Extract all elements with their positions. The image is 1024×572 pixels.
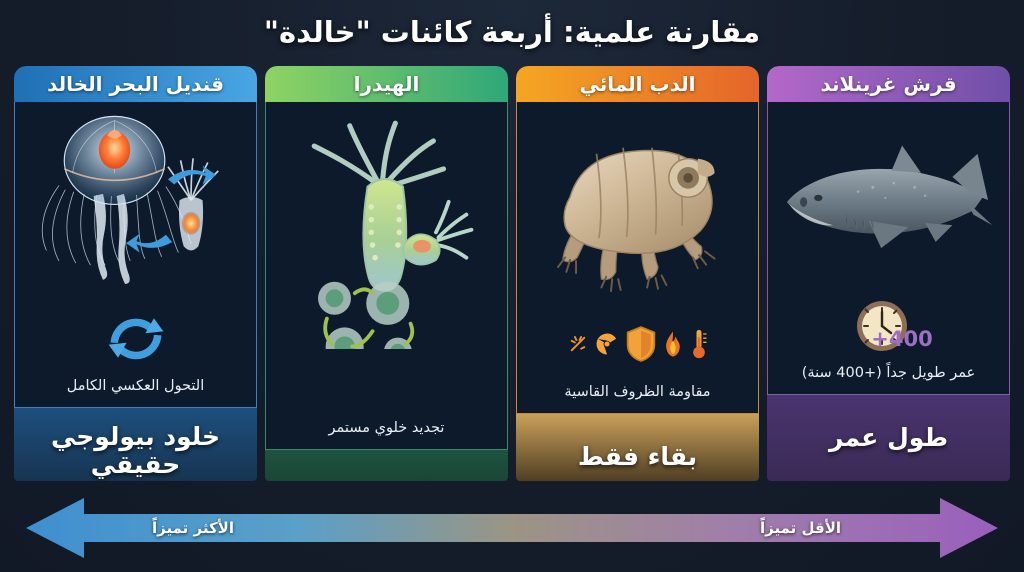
card-caption-immortal-jellyfish: التحول العكسي الكامل [67, 369, 205, 407]
scale-label-least-distinct: الأقل تميزاً [760, 519, 841, 537]
card-header-tardigrade: الدب المائي [516, 66, 759, 102]
jellyfish-illustration [15, 108, 256, 307]
page-title: مقارنة علمية: أربعة كائنات "خالدة" [0, 6, 1024, 58]
resistance-icons-group [517, 313, 758, 375]
card-caption-hydra: تجديد خلوي مستمر [329, 411, 445, 449]
thermometer-icon [689, 327, 709, 361]
card-verdict-hydra: لا تشيخ [265, 450, 508, 481]
greenland-shark-illustration [768, 108, 1009, 294]
clock-icon: 400+ [768, 294, 1009, 356]
scale-label-most-distinct: الأكثر تميزاً [152, 519, 234, 537]
stem-cells-icon [266, 349, 507, 411]
radiation-icon [595, 332, 619, 356]
clock-badge-value: 400+ [871, 327, 932, 351]
dehydration-icon [567, 333, 589, 355]
comparison-cards: قنديل البحر الخالد [14, 66, 1010, 481]
distinction-scale: الأكثر تميزاً الأقل تميزاً [0, 492, 1024, 564]
card-caption-tardigrade: مقاومة الظروف القاسية [564, 375, 710, 413]
card-header-hydra: الهيدرا [265, 66, 508, 102]
tardigrade-illustration [517, 108, 758, 313]
flame-icon [663, 329, 683, 359]
shield-icon [625, 324, 657, 364]
card-tardigrade[interactable]: الدب المائي [516, 66, 759, 481]
card-body-immortal-jellyfish: التحول العكسي الكامل [14, 102, 257, 408]
card-body-tardigrade: مقاومة الظروف القاسية [516, 102, 759, 414]
card-body-hydra: تجديد خلوي مستمر [265, 102, 508, 450]
card-body-greenland-shark: 400+ عمر طويل جداً (+400 سنة) [767, 102, 1010, 395]
card-verdict-tardigrade: بقاء فقط [516, 414, 759, 481]
card-header-immortal-jellyfish: قنديل البحر الخالد [14, 66, 257, 102]
card-header-greenland-shark: قرش غرينلاند [767, 66, 1010, 102]
card-caption-greenland-shark: عمر طويل جداً (+400 سنة) [802, 356, 976, 394]
card-hydra[interactable]: الهيدرا [265, 66, 508, 481]
card-immortal-jellyfish[interactable]: قنديل البحر الخالد [14, 66, 257, 481]
card-verdict-immortal-jellyfish: خلود بيولوجي حقيقي [14, 408, 257, 481]
card-greenland-shark[interactable]: قرش غرينلاند [767, 66, 1010, 481]
cycle-arrows-icon [15, 307, 256, 369]
hydra-illustration [266, 108, 507, 349]
card-verdict-greenland-shark: طول عمر [767, 395, 1010, 481]
infographic-canvas: مقارنة علمية: أربعة كائنات "خالدة" قنديل… [0, 0, 1024, 572]
